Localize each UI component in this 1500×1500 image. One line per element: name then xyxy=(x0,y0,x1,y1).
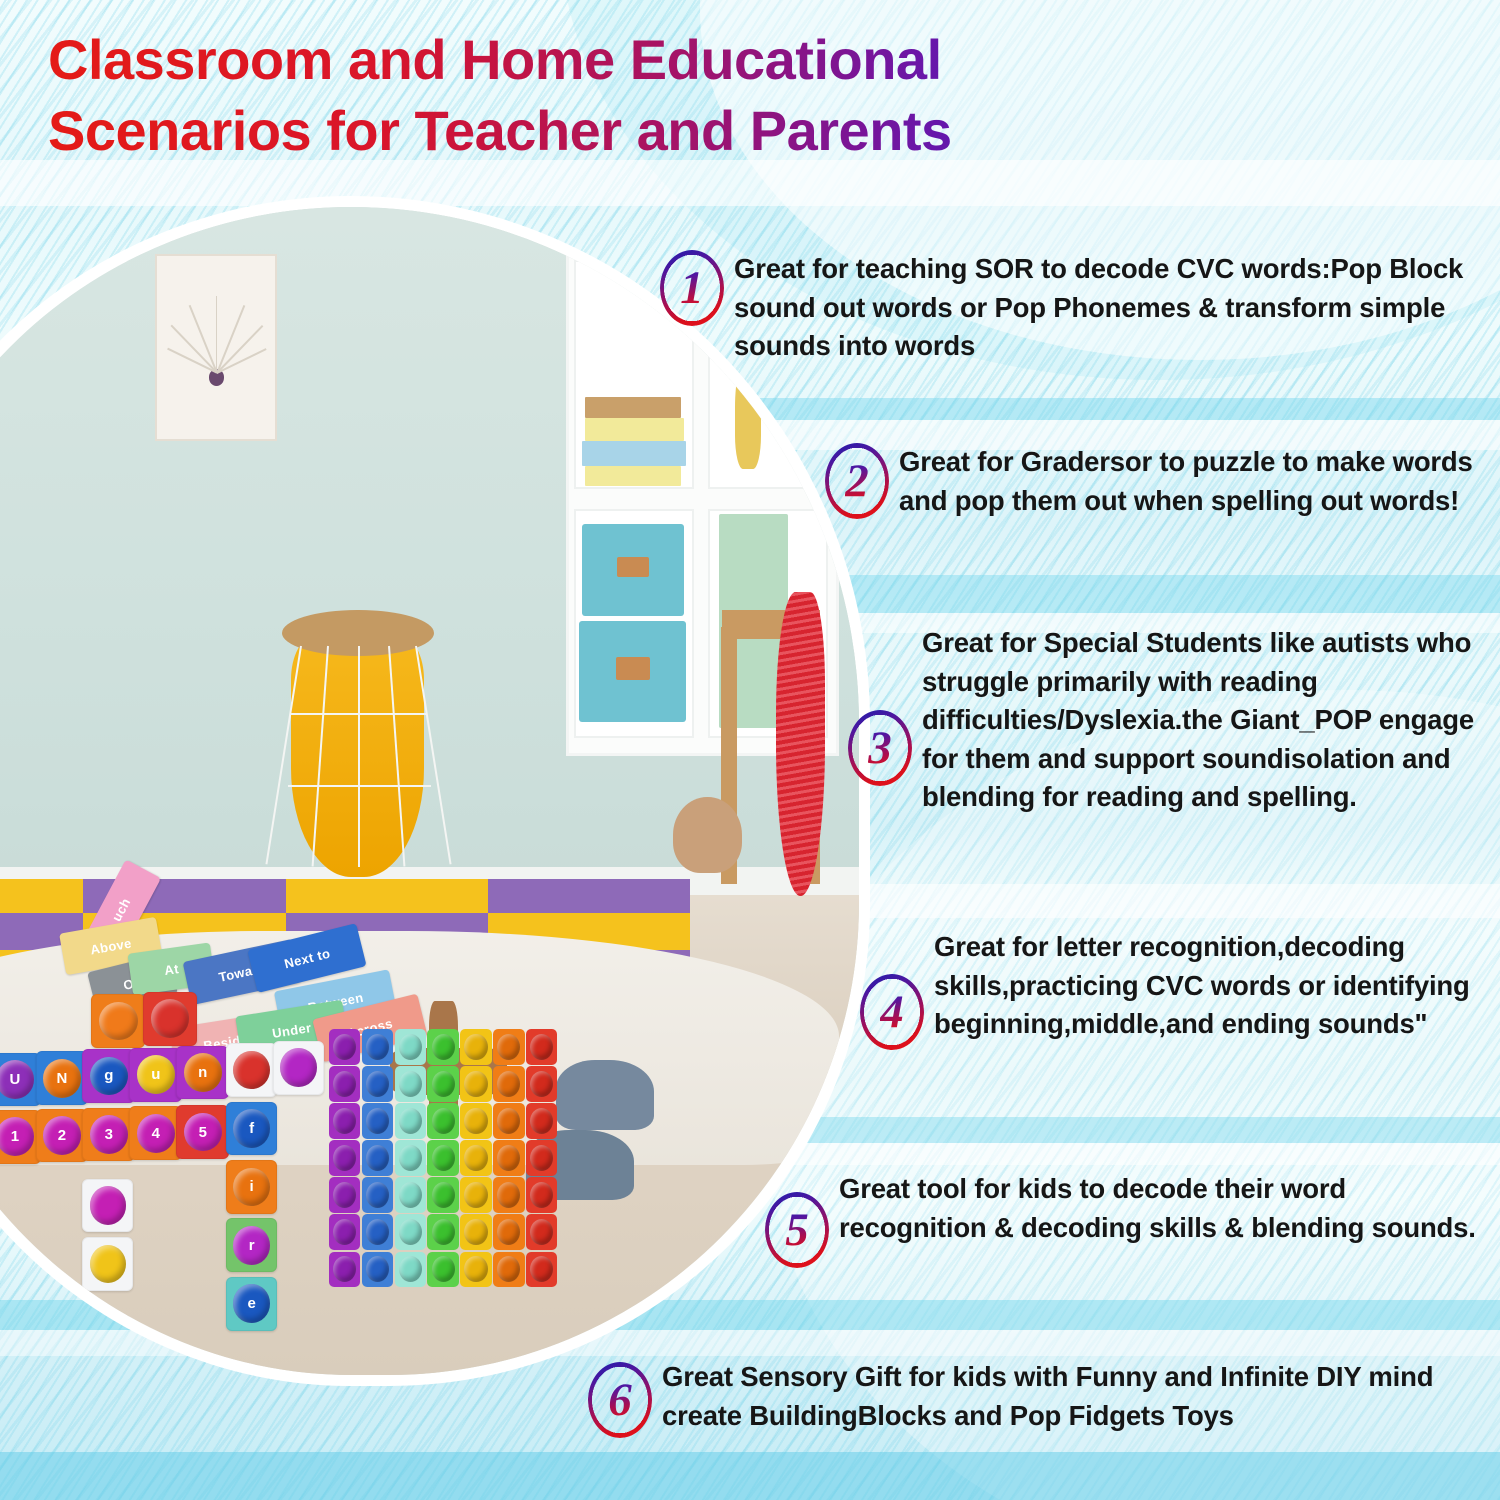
pop-block-letter[interactable]: r xyxy=(226,1218,277,1272)
pop-bubble xyxy=(464,1145,487,1171)
pop-block-letter[interactable]: g xyxy=(82,1049,135,1103)
bullet-item-4: 4 Great for letter recognition,decoding … xyxy=(860,928,1495,1050)
pop-block-letter[interactable]: N xyxy=(36,1051,89,1105)
bullet-number: 4 xyxy=(880,989,904,1036)
pop-bubble xyxy=(366,1071,389,1097)
bullet-item-1: 1 Great for teaching SOR to decode CVC w… xyxy=(660,250,1490,366)
pop-grid-cell[interactable] xyxy=(395,1103,426,1138)
pop-grid-cell[interactable] xyxy=(493,1177,524,1212)
pop-bubble xyxy=(497,1071,520,1097)
bullet-item-6: 6 Great Sensory Gift for kids with Funny… xyxy=(588,1358,1493,1438)
bullet-number: 1 xyxy=(680,265,704,312)
scene-photo: uch Above On At Toward Next to Between B… xyxy=(0,207,859,1375)
pop-bubble xyxy=(432,1034,455,1060)
pop-bubble xyxy=(432,1108,455,1134)
pop-grid-cell[interactable] xyxy=(526,1252,557,1287)
bullet-number: 3 xyxy=(868,725,892,772)
bullet-number: 5 xyxy=(785,1207,809,1254)
pop-block-number[interactable]: 5 xyxy=(176,1105,229,1159)
pop-bubble xyxy=(399,1034,422,1060)
pop-grid-cell[interactable] xyxy=(329,1103,360,1138)
pop-bubble xyxy=(464,1071,487,1097)
bullet-text: Great for Special Students like autists … xyxy=(922,624,1493,817)
pop-bubble xyxy=(333,1034,356,1060)
pop-grid-cell[interactable] xyxy=(460,1177,491,1212)
rainbow-pop-grid[interactable] xyxy=(329,1029,559,1288)
pop-grid-cell[interactable] xyxy=(460,1252,491,1287)
pop-grid-cell[interactable] xyxy=(493,1140,524,1175)
pop-grid-cell[interactable] xyxy=(329,1177,360,1212)
pop-block[interactable] xyxy=(226,1043,277,1097)
pop-grid-cell[interactable] xyxy=(427,1029,458,1064)
pop-bubble xyxy=(366,1145,389,1171)
pop-grid-cell[interactable] xyxy=(395,1214,426,1249)
bullet-number-badge: 3 xyxy=(848,710,912,786)
pop-grid-cell[interactable] xyxy=(329,1214,360,1249)
pop-bubble xyxy=(333,1256,356,1282)
pop-grid-cell[interactable] xyxy=(526,1029,557,1064)
pop-bubble xyxy=(497,1108,520,1134)
pop-grid-cell[interactable] xyxy=(526,1066,557,1101)
page-title-line-1: Classroom and Home Educational xyxy=(48,24,1228,95)
bullet-number-badge: 4 xyxy=(860,974,924,1050)
pop-block[interactable] xyxy=(143,992,197,1046)
pop-bubble xyxy=(399,1182,422,1208)
pop-bubble xyxy=(530,1071,553,1097)
pop-grid-cell[interactable] xyxy=(427,1177,458,1212)
pop-block[interactable] xyxy=(273,1041,324,1095)
pop-bubble xyxy=(399,1219,422,1245)
pop-grid-cell[interactable] xyxy=(427,1252,458,1287)
pop-block-number[interactable]: 4 xyxy=(129,1106,182,1160)
pop-grid-cell[interactable] xyxy=(493,1214,524,1249)
pop-grid-cell[interactable] xyxy=(362,1177,393,1212)
pop-bubble xyxy=(333,1219,356,1245)
pop-bubble xyxy=(399,1071,422,1097)
pop-bubble xyxy=(497,1256,520,1282)
pop-grid-cell[interactable] xyxy=(493,1066,524,1101)
bullet-number: 2 xyxy=(845,458,869,505)
page-title-line-2: Scenarios for Teacher and Parents xyxy=(48,95,1228,166)
pop-bubble xyxy=(432,1071,455,1097)
pop-grid-cell[interactable] xyxy=(427,1103,458,1138)
pop-grid-cell[interactable] xyxy=(362,1029,393,1064)
background-band xyxy=(0,160,1500,206)
pop-grid-cell[interactable] xyxy=(362,1066,393,1101)
scene-photo-frame: uch Above On At Toward Next to Between B… xyxy=(0,196,870,1386)
pop-bubble xyxy=(530,1182,553,1208)
pop-block-number[interactable]: 2 xyxy=(36,1109,89,1163)
pop-block-letter[interactable]: i xyxy=(226,1160,277,1214)
pop-grid-cell[interactable] xyxy=(362,1252,393,1287)
pop-bubble xyxy=(497,1145,520,1171)
pop-grid-cell[interactable] xyxy=(329,1029,360,1064)
pop-grid-cell[interactable] xyxy=(362,1214,393,1249)
pop-bubble xyxy=(432,1219,455,1245)
pop-bubble xyxy=(366,1182,389,1208)
bullet-item-2: 2 Great for Gradersor to puzzle to make … xyxy=(825,443,1490,520)
pop-bubble xyxy=(366,1034,389,1060)
pop-bubble xyxy=(399,1145,422,1171)
pop-grid-cell[interactable] xyxy=(427,1140,458,1175)
pop-grid-cell[interactable] xyxy=(329,1252,360,1287)
background-band xyxy=(0,1452,1500,1500)
pop-bubble xyxy=(366,1256,389,1282)
pop-grid-cell[interactable] xyxy=(526,1177,557,1212)
pop-bubble xyxy=(464,1108,487,1134)
pop-bubble xyxy=(464,1034,487,1060)
pop-bubble xyxy=(497,1034,520,1060)
pop-grid-cell[interactable] xyxy=(460,1140,491,1175)
pop-grid-cell[interactable] xyxy=(395,1252,426,1287)
bullet-number: 6 xyxy=(608,1377,632,1424)
pop-grid-cell[interactable] xyxy=(460,1066,491,1101)
pop-grid-cell[interactable] xyxy=(329,1140,360,1175)
pop-grid-cell[interactable] xyxy=(395,1066,426,1101)
pop-bubble xyxy=(530,1256,553,1282)
bullet-text: Great tool for kids to decode their word… xyxy=(839,1170,1490,1247)
pop-block-letter[interactable]: u xyxy=(129,1048,182,1102)
pop-bubble xyxy=(399,1108,422,1134)
pop-grid-cell[interactable] xyxy=(526,1103,557,1138)
bullet-number-badge: 6 xyxy=(588,1362,652,1438)
pop-bubble xyxy=(366,1219,389,1245)
pop-bubble xyxy=(333,1071,356,1097)
pop-grid-cell[interactable] xyxy=(427,1066,458,1101)
pop-grid-cell[interactable] xyxy=(395,1177,426,1212)
pop-block-letter[interactable]: n xyxy=(176,1046,229,1100)
bullet-number-badge: 2 xyxy=(825,443,889,519)
pop-block[interactable] xyxy=(91,994,145,1048)
pop-bubble xyxy=(464,1182,487,1208)
pop-bubble xyxy=(399,1256,422,1282)
pop-grid-cell[interactable] xyxy=(395,1140,426,1175)
pop-grid-cell[interactable] xyxy=(460,1214,491,1249)
pop-bubble xyxy=(530,1145,553,1171)
bullet-text: Great for Gradersor to puzzle to make wo… xyxy=(899,443,1490,520)
bullet-text: Great Sensory Gift for kids with Funny a… xyxy=(662,1358,1493,1435)
pop-bubble xyxy=(497,1219,520,1245)
pop-bubble xyxy=(464,1256,487,1282)
pop-block-letter[interactable]: e xyxy=(226,1277,277,1331)
bullet-text: Great for teaching SOR to decode CVC wor… xyxy=(734,250,1490,366)
pop-grid-cell[interactable] xyxy=(526,1140,557,1175)
pop-bubble xyxy=(333,1108,356,1134)
pop-bubble xyxy=(530,1034,553,1060)
bullet-item-5: 5 Great tool for kids to decode their wo… xyxy=(765,1170,1490,1268)
page-title: Classroom and Home Educational Scenarios… xyxy=(48,24,1228,166)
pop-bubble xyxy=(530,1219,553,1245)
pop-grid-cell[interactable] xyxy=(493,1029,524,1064)
pop-grid-cell[interactable] xyxy=(526,1214,557,1249)
pop-bubble xyxy=(464,1219,487,1245)
pop-grid-cell[interactable] xyxy=(493,1103,524,1138)
pop-grid-cell[interactable] xyxy=(329,1066,360,1101)
bullet-number-badge: 5 xyxy=(765,1192,829,1268)
pop-block-letter[interactable]: f xyxy=(226,1102,277,1156)
pop-it-toy-set: uch Above On At Toward Next to Between B… xyxy=(0,207,859,1375)
pop-block[interactable] xyxy=(82,1179,133,1233)
pop-bubble xyxy=(366,1108,389,1134)
pop-grid-cell[interactable] xyxy=(493,1252,524,1287)
pop-bubble xyxy=(432,1256,455,1282)
pop-bubble xyxy=(333,1182,356,1208)
bullet-text: Great for letter recognition,decoding sk… xyxy=(934,928,1495,1044)
pop-grid-cell[interactable] xyxy=(362,1140,393,1175)
bullet-number-badge: 1 xyxy=(660,250,724,326)
pop-grid-cell[interactable] xyxy=(395,1029,426,1064)
pop-bubble xyxy=(432,1145,455,1171)
pop-bubble xyxy=(333,1145,356,1171)
bullet-item-3: 3 Great for Special Students like autist… xyxy=(848,624,1493,817)
pop-block[interactable] xyxy=(82,1237,133,1291)
pop-block-number[interactable]: 3 xyxy=(82,1108,135,1162)
pop-bubble xyxy=(432,1182,455,1208)
pop-grid-cell[interactable] xyxy=(460,1103,491,1138)
pop-grid-cell[interactable] xyxy=(362,1103,393,1138)
pop-grid-cell[interactable] xyxy=(460,1029,491,1064)
pop-grid-cell[interactable] xyxy=(427,1214,458,1249)
pop-bubble xyxy=(530,1108,553,1134)
pop-bubble xyxy=(497,1182,520,1208)
